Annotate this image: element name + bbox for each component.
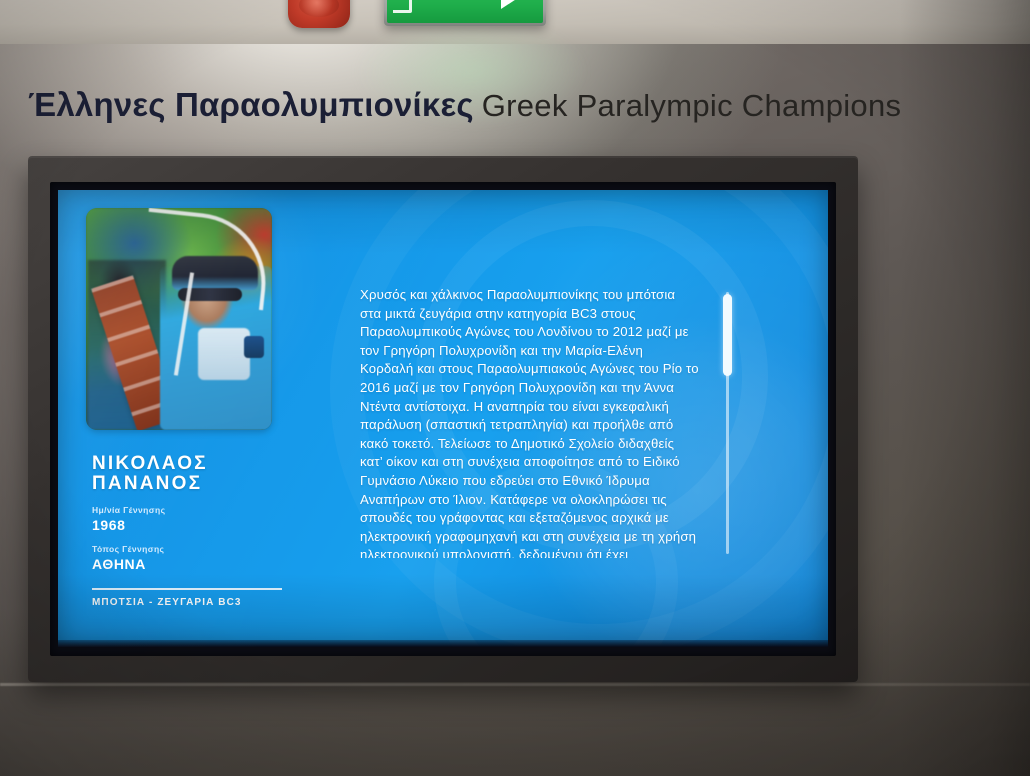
athlete-name-line2: ΠΑΝΑΝΟΣ bbox=[92, 474, 298, 494]
birthplace-value: ΑΘΗΝΑ bbox=[92, 556, 298, 572]
athlete-photo bbox=[86, 208, 272, 430]
birthdate-field: Ημ/νία Γέννησης 1968 bbox=[92, 505, 298, 533]
athlete-name: ΝΙΚΟΛΑΟΣ ΠΑΝΑΝΟΣ bbox=[92, 454, 298, 494]
biography-text-panel[interactable]: Χρυσός και χάλκινος Παραολυμπιονίκης του… bbox=[360, 286, 700, 558]
display-screen[interactable]: ΝΙΚΟΛΑΟΣ ΠΑΝΑΝΟΣ Ημ/νία Γέννησης 1968 Τό… bbox=[58, 190, 828, 647]
emergency-exit-sign bbox=[384, 0, 546, 26]
fire-alarm-bell-icon bbox=[288, 0, 350, 28]
athlete-info-column: ΝΙΚΟΛΑΟΣ ΠΑΝΑΝΟΣ Ημ/νία Γέννησης 1968 Τό… bbox=[86, 208, 298, 608]
monitor-bezel-inner: ΝΙΚΟΛΑΟΣ ΠΑΝΑΝΟΣ Ημ/νία Γέννησης 1968 Τό… bbox=[50, 182, 836, 656]
section-divider bbox=[92, 588, 282, 590]
birthplace-label: Τόπος Γέννησης bbox=[92, 544, 298, 554]
exhibition-wall-scene: Έλληνες ΠαραολυμπιονίκεςGreek Paralympic… bbox=[0, 0, 1030, 776]
wall-mounted-monitor: ΝΙΚΟΛΑΟΣ ΠΑΝΑΝΟΣ Ημ/νία Γέννησης 1968 Τό… bbox=[28, 156, 858, 682]
biography-text: Χρυσός και χάλκινος Παραολυμπιονίκης του… bbox=[360, 286, 700, 558]
wall-joint-line bbox=[0, 683, 1030, 686]
birthdate-value: 1968 bbox=[92, 517, 298, 533]
athlete-name-line1: ΝΙΚΟΛΑΟΣ bbox=[92, 454, 298, 474]
exit-door-icon bbox=[393, 0, 412, 13]
arrow-right-icon bbox=[501, 0, 521, 9]
screen-bottom-band bbox=[58, 640, 828, 647]
heading-greek: Έλληνες Παραολυμπιονίκες bbox=[28, 86, 474, 123]
scrollbar-thumb[interactable] bbox=[723, 294, 732, 376]
wall-heading: Έλληνες ΠαραολυμπιονίκεςGreek Paralympic… bbox=[28, 86, 928, 124]
heading-english: Greek Paralympic Champions bbox=[482, 88, 902, 123]
birthdate-label: Ημ/νία Γέννησης bbox=[92, 505, 298, 515]
photo-athlete-bib bbox=[198, 328, 250, 380]
running-person-icon bbox=[447, 0, 475, 9]
exit-sign-face bbox=[387, 0, 543, 23]
birthplace-field: Τόπος Γέννησης ΑΘΗΝΑ bbox=[92, 544, 298, 572]
sport-category-label: ΜΠΟΤΣΙΑ - ΖΕΥΓΑΡΙΑ BC3 bbox=[92, 597, 298, 608]
photo-team-badge bbox=[244, 336, 264, 358]
